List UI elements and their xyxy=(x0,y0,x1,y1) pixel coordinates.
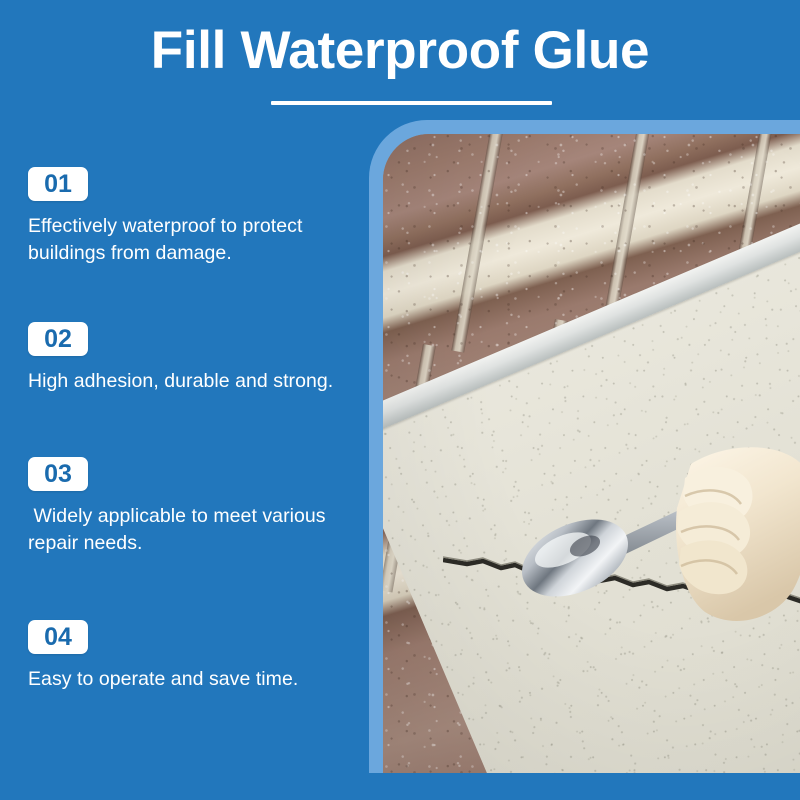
page-title: Fill Waterproof Glue xyxy=(0,18,800,84)
product-photo-panel xyxy=(369,120,800,773)
feature-number-badge: 02 xyxy=(28,322,88,356)
feature-number-badge: 03 xyxy=(28,457,88,491)
product-infographic-poster: Fill Waterproof Glue 01 Effectively wate… xyxy=(0,0,800,800)
gloved-hand-icon xyxy=(633,434,800,644)
feature-number-badge: 01 xyxy=(28,167,88,201)
feature-item-03: 03 Widely applicable to meet various rep… xyxy=(28,457,380,557)
feature-item-04: 04 Easy to operate and save time. xyxy=(28,620,380,693)
feature-number-badge: 04 xyxy=(28,620,88,654)
feature-list: 01 Effectively waterproof to protect bui… xyxy=(0,122,400,800)
bottom-accent-bar xyxy=(0,773,800,800)
feature-description: High adhesion, durable and strong. xyxy=(28,368,380,395)
feature-item-01: 01 Effectively waterproof to protect bui… xyxy=(28,167,380,267)
title-underline-divider xyxy=(271,101,552,105)
feature-description: Easy to operate and save time. xyxy=(28,666,380,693)
feature-description: Effectively waterproof to protect buildi… xyxy=(28,213,380,267)
feature-description: Widely applicable to meet various repair… xyxy=(28,503,380,557)
feature-item-02: 02 High adhesion, durable and strong. xyxy=(28,322,380,395)
product-photo xyxy=(383,134,800,773)
poster-header: Fill Waterproof Glue xyxy=(0,0,800,122)
